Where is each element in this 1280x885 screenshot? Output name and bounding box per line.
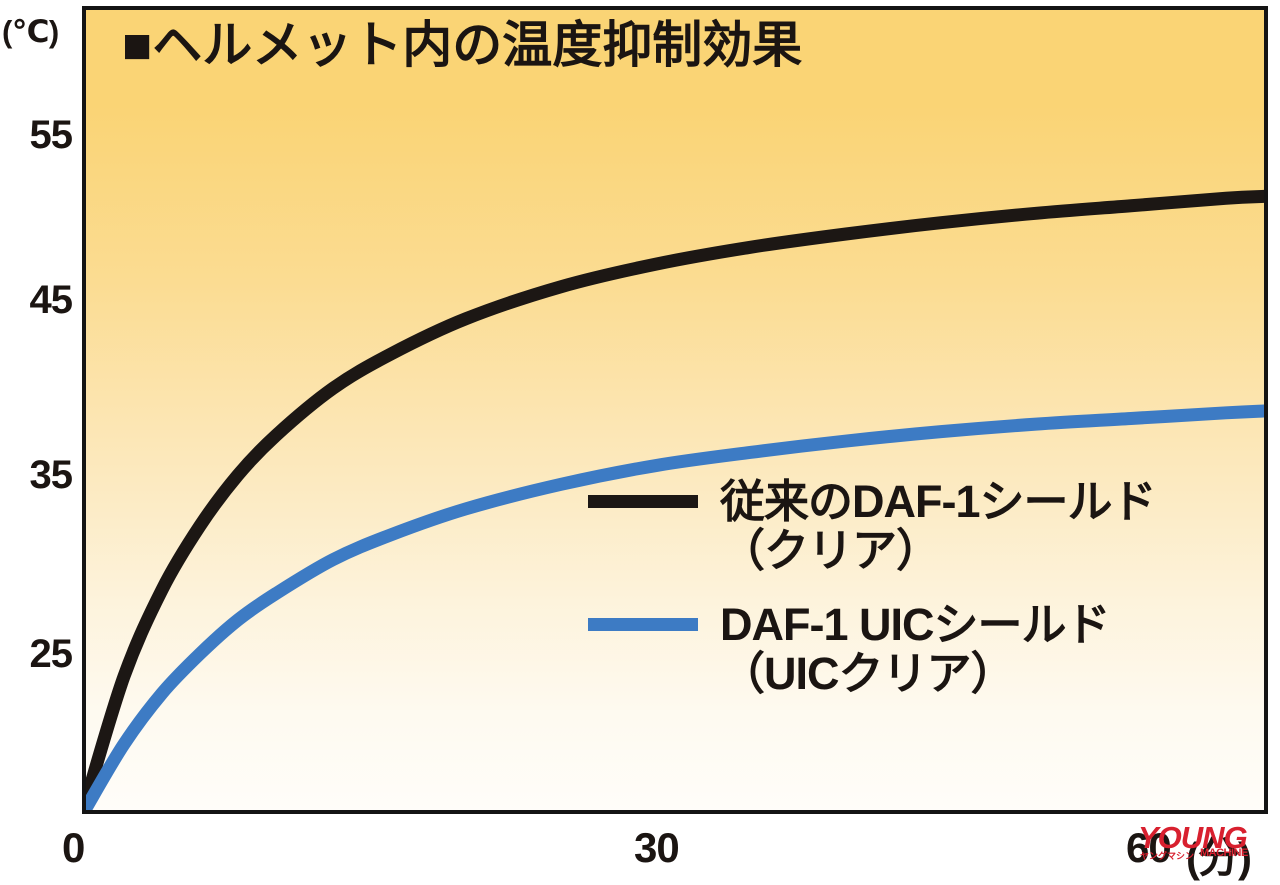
- y-axis-unit-label: (℃): [2, 14, 59, 50]
- x-tick-label-60: 60: [1126, 824, 1171, 872]
- x-tick-label-0: 0: [62, 824, 84, 872]
- legend-sublabel-conventional: （クリア）: [720, 527, 1268, 574]
- legend-sublabel-uic: （UICクリア）: [720, 650, 1268, 697]
- legend-swatch-conventional: [588, 495, 698, 508]
- y-tick-label-55: 55: [6, 113, 72, 158]
- y-tick-label-45: 45: [6, 278, 72, 323]
- x-axis-unit-label: (分): [1186, 824, 1250, 885]
- y-tick-label-25: 25: [6, 632, 72, 677]
- legend-label-conventional: 従来のDAF-1シールド: [720, 478, 1156, 525]
- chart-figure: (℃) 55 45 35 25 0 30 60 (分) ■ヘルメット内の温度抑制…: [0, 0, 1280, 870]
- legend-swatch-uic: [588, 618, 698, 631]
- legend-entry-uic: DAF-1 UICシールド （UICクリア）: [588, 601, 1268, 698]
- chart-legend: 従来のDAF-1シールド （クリア） DAF-1 UICシールド （UICクリア…: [588, 478, 1268, 723]
- legend-entry-conventional: 従来のDAF-1シールド （クリア）: [588, 478, 1268, 575]
- legend-label-uic: DAF-1 UICシールド: [720, 601, 1110, 648]
- y-tick-label-35: 35: [6, 453, 72, 498]
- chart-title: ■ヘルメット内の温度抑制効果: [122, 20, 802, 70]
- x-tick-label-30: 30: [634, 824, 679, 872]
